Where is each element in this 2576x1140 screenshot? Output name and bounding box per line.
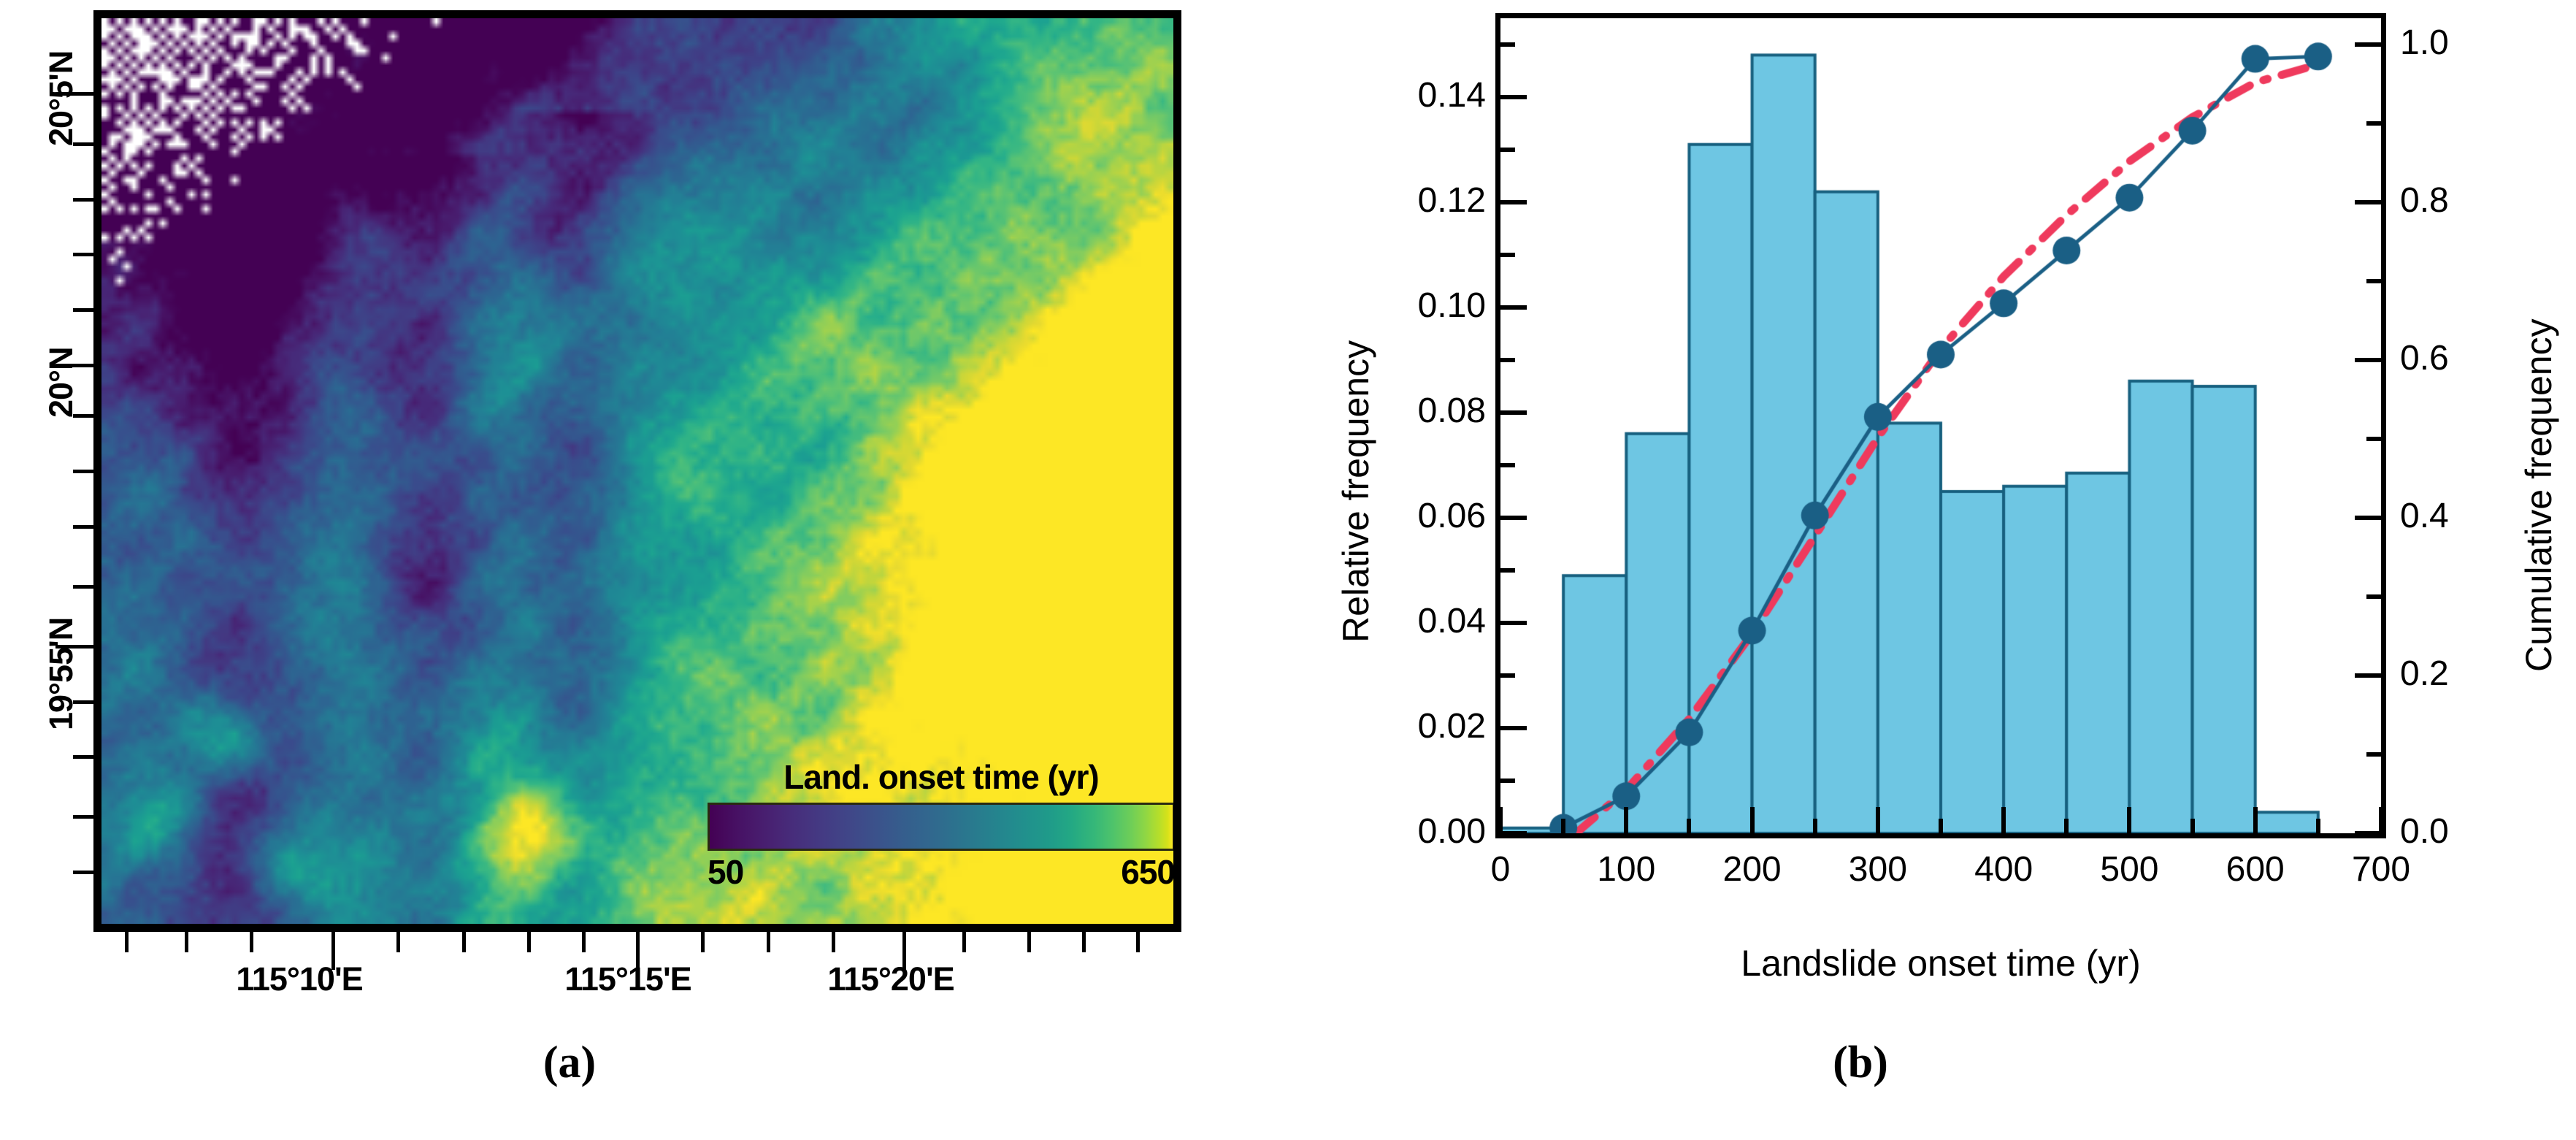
hist-y2tick bbox=[2366, 594, 2381, 599]
map-ytick-label-2: 19°55'N bbox=[42, 618, 80, 730]
hist-ytick bbox=[1500, 410, 1527, 415]
hist-ytick bbox=[1500, 516, 1527, 520]
map-xtick bbox=[331, 932, 335, 970]
map-ytick bbox=[73, 871, 93, 874]
hist-xtick bbox=[2379, 807, 2383, 833]
hist-xtick bbox=[1687, 819, 1691, 833]
hist-xtick bbox=[2190, 819, 2195, 833]
hist-xtick-label: 300 bbox=[1805, 849, 1951, 890]
map-raster-frame: Land. onset time (yr) 50 650 bbox=[93, 10, 1181, 932]
map-ytick bbox=[73, 585, 93, 589]
hist-xtick bbox=[1750, 807, 1755, 833]
hist-y2tick bbox=[2366, 279, 2381, 283]
map-xtick bbox=[832, 932, 835, 952]
hist-y2tick bbox=[2355, 358, 2381, 362]
map-xtick bbox=[1136, 932, 1140, 952]
map-xtick bbox=[1082, 932, 1086, 952]
map-ytick bbox=[73, 755, 93, 759]
hist-y2tick-label: 0.2 bbox=[2400, 654, 2561, 694]
map-xtick bbox=[396, 932, 400, 952]
map-ytick bbox=[73, 700, 93, 704]
hist-xtick bbox=[1624, 807, 1628, 833]
hist-ytick-label: 0.06 bbox=[1303, 496, 1486, 536]
colorbar-max-label: 650 bbox=[1121, 852, 1175, 892]
map-ytick bbox=[73, 414, 93, 418]
hist-xtick bbox=[1939, 819, 1943, 833]
hist-y2tick bbox=[2355, 831, 2381, 835]
hist-y2tick-label: 0.0 bbox=[2400, 811, 2561, 852]
map-xtick bbox=[636, 932, 640, 970]
hist-ytick bbox=[1500, 463, 1515, 467]
panel-a-map: 20°5'N 20°N 19°55'N 115°10'E 115°15'E 11… bbox=[0, 0, 1285, 1030]
hist-ytick bbox=[1500, 42, 1515, 47]
colorbar-gradient bbox=[708, 803, 1175, 851]
hist-y-axis-label: Relative frequency bbox=[1335, 340, 1377, 643]
map-ytick bbox=[73, 198, 93, 202]
hist-y2tick bbox=[2355, 200, 2381, 204]
colorbar-min-label: 50 bbox=[708, 852, 743, 892]
hist-ytick-label: 0.12 bbox=[1303, 180, 1486, 221]
hist-xtick-label: 400 bbox=[1931, 849, 2077, 890]
map-ytick bbox=[73, 142, 93, 146]
colorbar-ticks: 50 650 bbox=[708, 852, 1175, 892]
hist-ytick bbox=[1500, 253, 1515, 257]
map-ytick bbox=[73, 525, 93, 529]
hist-xtick bbox=[1561, 819, 1565, 833]
hist-xtick bbox=[2001, 807, 2006, 833]
hist-ytick bbox=[1500, 305, 1527, 310]
histogram-canvas bbox=[1500, 18, 2381, 833]
map-xtick bbox=[962, 932, 966, 952]
hist-y2tick-label: 0.4 bbox=[2400, 496, 2561, 536]
hist-xtick bbox=[2253, 807, 2258, 833]
hist-ytick-label: 0.00 bbox=[1303, 811, 1486, 852]
hist-ytick-label: 0.10 bbox=[1303, 286, 1486, 326]
colorbar-title: Land. onset time (yr) bbox=[708, 757, 1175, 797]
hist-ytick bbox=[1500, 95, 1527, 99]
hist-xtick-label: 500 bbox=[2056, 849, 2202, 890]
hist-ytick bbox=[1500, 200, 1527, 204]
hist-xtick-label: 100 bbox=[1553, 849, 1699, 890]
hist-y2tick-label: 0.6 bbox=[2400, 338, 2561, 378]
map-ytick bbox=[73, 470, 93, 473]
hist-ytick-label: 0.04 bbox=[1303, 601, 1486, 641]
hist-ytick-label: 0.08 bbox=[1303, 391, 1486, 431]
hist-y2tick bbox=[2355, 673, 2381, 678]
hist-xtick bbox=[1813, 819, 1817, 833]
hist-y2tick bbox=[2355, 516, 2381, 520]
map-ytick bbox=[55, 92, 93, 96]
hist-xtick-label: 600 bbox=[2182, 849, 2328, 890]
hist-ytick bbox=[1500, 568, 1515, 573]
hist-xtick-label: 0 bbox=[1427, 849, 1573, 890]
hist-xtick-label: 200 bbox=[1679, 849, 1825, 890]
hist-xtick bbox=[1876, 807, 1880, 833]
panel-b-caption: (b) bbox=[1787, 1037, 1933, 1089]
panel-a-caption: (a) bbox=[497, 1037, 643, 1089]
hist-y2tick-label: 0.8 bbox=[2400, 180, 2561, 221]
hist-y2tick-label: 1.0 bbox=[2400, 23, 2561, 63]
hist-ytick-label: 0.02 bbox=[1303, 706, 1486, 746]
map-xtick bbox=[185, 932, 188, 952]
map-xtick bbox=[250, 932, 253, 952]
map-xtick bbox=[902, 932, 906, 970]
hist-y2tick bbox=[2366, 752, 2381, 757]
figure-root: 20°5'N 20°N 19°55'N 115°10'E 115°15'E 11… bbox=[0, 0, 2576, 1140]
hist-plot-frame bbox=[1495, 13, 2386, 838]
map-ytick-label-0: 20°5'N bbox=[42, 51, 80, 146]
hist-ytick-label: 0.14 bbox=[1303, 75, 1486, 115]
map-xtick bbox=[582, 932, 586, 952]
map-xtick-label-1: 115°15'E bbox=[511, 960, 745, 998]
hist-x-axis-label: Landslide onset time (yr) bbox=[1641, 942, 2240, 984]
hist-xtick bbox=[2316, 819, 2320, 833]
hist-xtick bbox=[2064, 819, 2069, 833]
hist-ytick bbox=[1500, 779, 1515, 783]
map-ytick-label-1: 20°N bbox=[42, 347, 80, 418]
hist-xtick bbox=[2127, 807, 2131, 833]
map-xtick bbox=[125, 932, 129, 952]
map-ytick bbox=[55, 645, 93, 649]
hist-ytick bbox=[1500, 673, 1515, 678]
map-xtick bbox=[527, 932, 531, 952]
hist-ytick bbox=[1500, 358, 1515, 362]
map-xtick bbox=[1027, 932, 1031, 952]
map-xtick-label-0: 115°10'E bbox=[183, 960, 416, 998]
map-ytick bbox=[73, 253, 93, 256]
map-xtick bbox=[701, 932, 705, 952]
hist-ytick bbox=[1500, 621, 1527, 625]
hist-ytick bbox=[1500, 726, 1527, 730]
map-ytick bbox=[55, 364, 93, 367]
panel-b-histogram: Relative frequency Cumulative frequency … bbox=[1291, 0, 2576, 1030]
map-colorbar: Land. onset time (yr) 50 650 bbox=[708, 757, 1175, 892]
map-ytick bbox=[73, 815, 93, 819]
hist-ytick bbox=[1500, 148, 1515, 152]
map-ytick bbox=[73, 308, 93, 312]
hist-xtick-label: 700 bbox=[2308, 849, 2454, 890]
hist-plot-inner bbox=[1500, 18, 2381, 833]
hist-xtick bbox=[1498, 807, 1503, 833]
hist-y2tick bbox=[2366, 121, 2381, 126]
map-xtick bbox=[767, 932, 770, 952]
hist-y2tick bbox=[2355, 42, 2381, 47]
map-xtick-label-2: 115°20'E bbox=[774, 960, 1008, 998]
map-xtick bbox=[462, 932, 466, 952]
hist-ytick bbox=[1500, 831, 1527, 835]
hist-y2tick bbox=[2366, 437, 2381, 441]
